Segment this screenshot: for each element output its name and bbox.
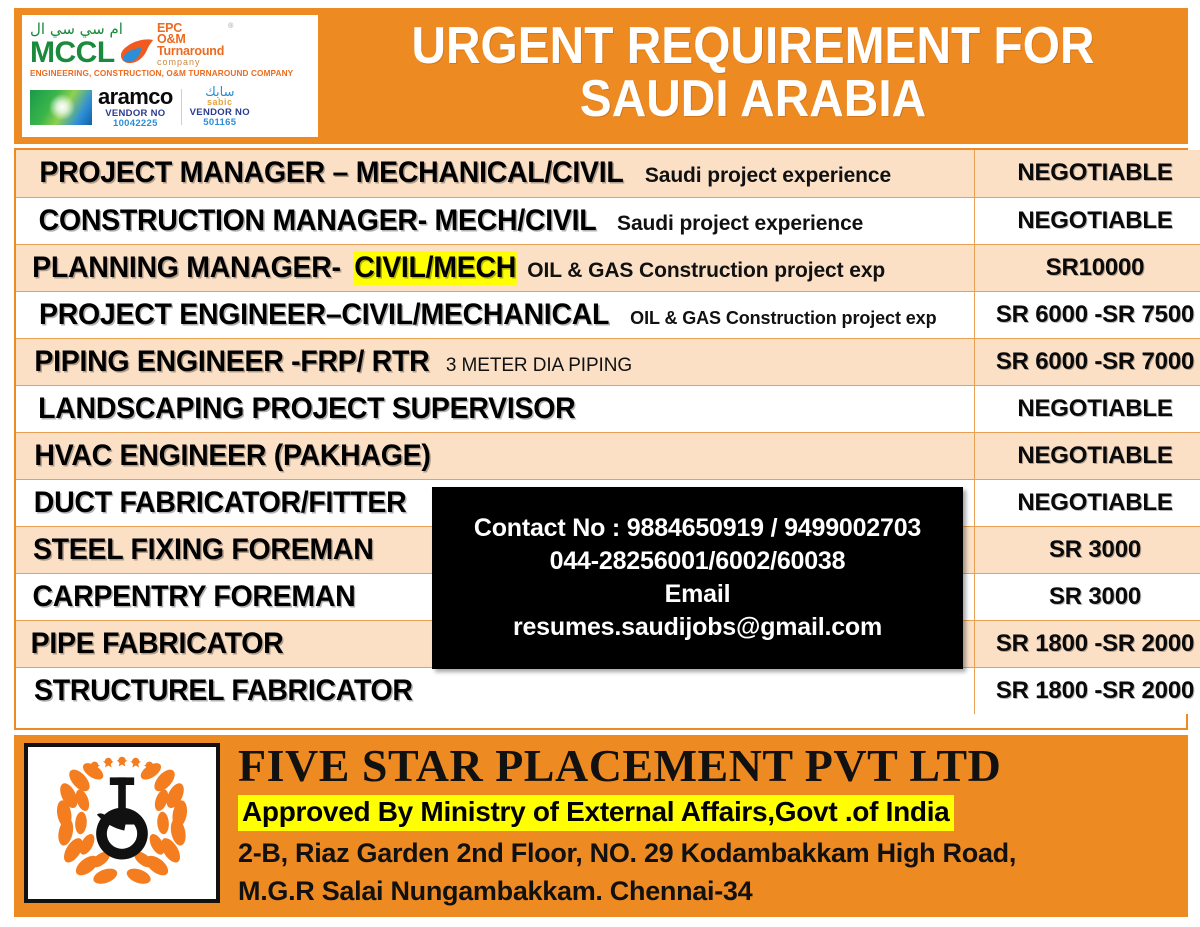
salary-text: SR 1800 -SR 2000 (996, 630, 1194, 657)
vendor-logos-row: aramco VENDOR NO 10042225 سابك sabic VEN… (30, 85, 312, 129)
job-title-cell: HVAC ENGINEER (PAKHAGE) (16, 432, 975, 479)
registered-trademark-icon: ® (228, 23, 233, 30)
salary-text: SR 3000 (1049, 536, 1141, 563)
salary-text: SR 1800 -SR 2000 (996, 677, 1194, 704)
salary-cell: NEGOTIABLE (975, 150, 1200, 197)
contact-phone-mobile: Contact No : 9884650919 / 9499002703 (474, 512, 921, 545)
table-row: PROJECT MANAGER – MECHANICAL/CIVILSaudi … (16, 150, 1200, 197)
page-title-text: URGENT REQUIREMENT FOR SAUDI ARABIA (362, 20, 1144, 126)
salary-text: NEGOTIABLE (1017, 395, 1172, 422)
salary-cell: SR 6000 -SR 7500 (975, 291, 1200, 338)
job-title-cell: STRUCTUREL FABRICATOR (16, 667, 975, 714)
salary-text: NEGOTIABLE (1017, 489, 1172, 516)
job-title-text: DUCT FABRICATOR/FITTER (34, 486, 407, 520)
aramco-vendor-block: aramco VENDOR NO 10042225 (98, 85, 173, 128)
job-title-text: PROJECT MANAGER – MECHANICAL/CIVIL (39, 156, 623, 190)
job-title-text: STRUCTUREL FABRICATOR (34, 674, 413, 708)
flame-icon (117, 37, 155, 65)
salary-cell: NEGOTIABLE (975, 479, 1200, 526)
salary-cell: NEGOTIABLE (975, 432, 1200, 479)
agency-logo-box (24, 743, 220, 903)
job-title-text: PLANNING MANAGER- (32, 251, 341, 285)
job-requirement-note: 3 METER DIA PIPING (446, 355, 632, 376)
job-title-cell: PROJECT MANAGER – MECHANICAL/CIVILSaudi … (16, 150, 975, 197)
salary-cell: SR 3000 (975, 573, 1200, 620)
table-row: STRUCTUREL FABRICATORSR 1800 -SR 2000 (16, 667, 1200, 714)
sabic-vendor-block: سابك sabic VENDOR NO 501165 (190, 86, 250, 127)
poster-header: ام سي سي ال MCCL EPC O&M Turnaround comp… (14, 8, 1188, 144)
salary-cell: SR 3000 (975, 526, 1200, 573)
ministry-approval-badge: Approved By Ministry of External Affairs… (238, 795, 954, 831)
sabic-vendor-number: 501165 (190, 118, 250, 128)
salary-text: NEGOTIABLE (1017, 159, 1172, 186)
mccl-epc-line3: Turnaround (157, 46, 224, 58)
job-title-text: CONSTRUCTION MANAGER- MECH/CIVIL (39, 204, 597, 238)
salary-text: NEGOTIABLE (1017, 442, 1172, 469)
contact-email-address[interactable]: resumes.saudijobs@gmail.com (513, 611, 882, 644)
mccl-wordmark: ام سي سي ال MCCL (30, 22, 123, 68)
salary-cell: NEGOTIABLE (975, 385, 1200, 432)
laurel-wreath-icon (28, 747, 216, 899)
job-title-text: PIPE FABRICATOR (31, 627, 284, 661)
agency-address-line2: M.G.R Salai Nungambakkam. Chennai-34 (238, 876, 1188, 907)
aramco-vendor-number: 10042225 (98, 119, 173, 129)
contact-phone-landline: 044-28256001/6002/60038 (550, 545, 846, 578)
job-title-text: STEEL FIXING FOREMAN (33, 533, 374, 567)
job-advertisement-poster: ام سي سي ال MCCL EPC O&M Turnaround comp… (0, 0, 1200, 927)
job-title-text: LANDSCAPING PROJECT SUPERVISOR (38, 392, 575, 426)
table-row: PIPING ENGINEER -FRP/ RTR3 METER DIA PIP… (16, 338, 1200, 385)
salary-cell: NEGOTIABLE (975, 197, 1200, 244)
mccl-name-text: MCCL (30, 39, 123, 68)
poster-footer: FIVE STAR PLACEMENT PVT LTD Approved By … (14, 735, 1188, 917)
agency-details: FIVE STAR PLACEMENT PVT LTD Approved By … (220, 735, 1188, 917)
job-title-cell: LANDSCAPING PROJECT SUPERVISOR (16, 385, 975, 432)
mccl-tagline: ENGINEERING, CONSTRUCTION, O&M TURNAROUN… (30, 69, 312, 78)
job-requirement-note: Saudi project experience (617, 212, 863, 235)
mccl-logo-row: ام سي سي ال MCCL EPC O&M Turnaround comp… (30, 23, 312, 67)
salary-text: SR10000 (1046, 254, 1145, 281)
job-title-text: PIPING ENGINEER -FRP/ RTR (34, 345, 429, 379)
salary-text: SR 3000 (1049, 583, 1141, 610)
job-requirement-note: Saudi project experience (645, 164, 891, 187)
aramco-name: aramco (98, 85, 173, 108)
agency-name: FIVE STAR PLACEMENT PVT LTD (238, 741, 1188, 791)
mccl-logo-box: ام سي سي ال MCCL EPC O&M Turnaround comp… (22, 15, 318, 137)
table-row: HVAC ENGINEER (PAKHAGE)NEGOTIABLE (16, 432, 1200, 479)
salary-text: NEGOTIABLE (1017, 207, 1172, 234)
mccl-epc-line4: company (157, 58, 224, 66)
agency-address-line1: 2-B, Riaz Garden 2nd Floor, NO. 29 Kodam… (238, 838, 1188, 869)
table-row: PROJECT ENGINEER–CIVIL/MECHANICALOIL & G… (16, 291, 1200, 338)
page-title: URGENT REQUIREMENT FOR SAUDI ARABIA (318, 8, 1188, 144)
job-requirement-note: OIL & GAS Construction project exp (527, 259, 885, 282)
job-title-text: HVAC ENGINEER (PAKHAGE) (34, 439, 430, 473)
job-title-cell: PIPING ENGINEER -FRP/ RTR3 METER DIA PIP… (16, 338, 975, 385)
salary-cell: SR10000 (975, 244, 1200, 291)
job-title-cell: CONSTRUCTION MANAGER- MECH/CIVILSaudi pr… (16, 197, 975, 244)
contact-info-box: Contact No : 9884650919 / 9499002703 044… (432, 487, 963, 669)
job-title-highlighted-text: CIVIL/MECH (353, 251, 517, 285)
table-row: CONSTRUCTION MANAGER- MECH/CIVILSaudi pr… (16, 197, 1200, 244)
vendor-divider (181, 89, 182, 125)
salary-text: SR 6000 -SR 7500 (996, 301, 1194, 328)
table-row: PLANNING MANAGER- CIVIL/MECHOIL & GAS Co… (16, 244, 1200, 291)
salary-cell: SR 6000 -SR 7000 (975, 338, 1200, 385)
contact-email-label: Email (665, 578, 731, 611)
job-requirement-note: OIL & GAS Construction project exp (630, 308, 936, 328)
job-title-cell: PLANNING MANAGER- CIVIL/MECHOIL & GAS Co… (16, 244, 975, 291)
aramco-logo-icon (30, 90, 92, 125)
salary-cell: SR 1800 -SR 2000 (975, 667, 1200, 714)
job-title-text: PROJECT ENGINEER–CIVIL/MECHANICAL (39, 298, 609, 332)
job-title-text: CARPENTRY FOREMAN (32, 580, 355, 614)
job-title-cell: PROJECT ENGINEER–CIVIL/MECHANICALOIL & G… (16, 291, 975, 338)
table-row: LANDSCAPING PROJECT SUPERVISORNEGOTIABLE (16, 385, 1200, 432)
mccl-epc-block: EPC O&M Turnaround company (157, 23, 224, 66)
salary-text: SR 6000 -SR 7000 (996, 348, 1194, 375)
salary-cell: SR 1800 -SR 2000 (975, 620, 1200, 667)
